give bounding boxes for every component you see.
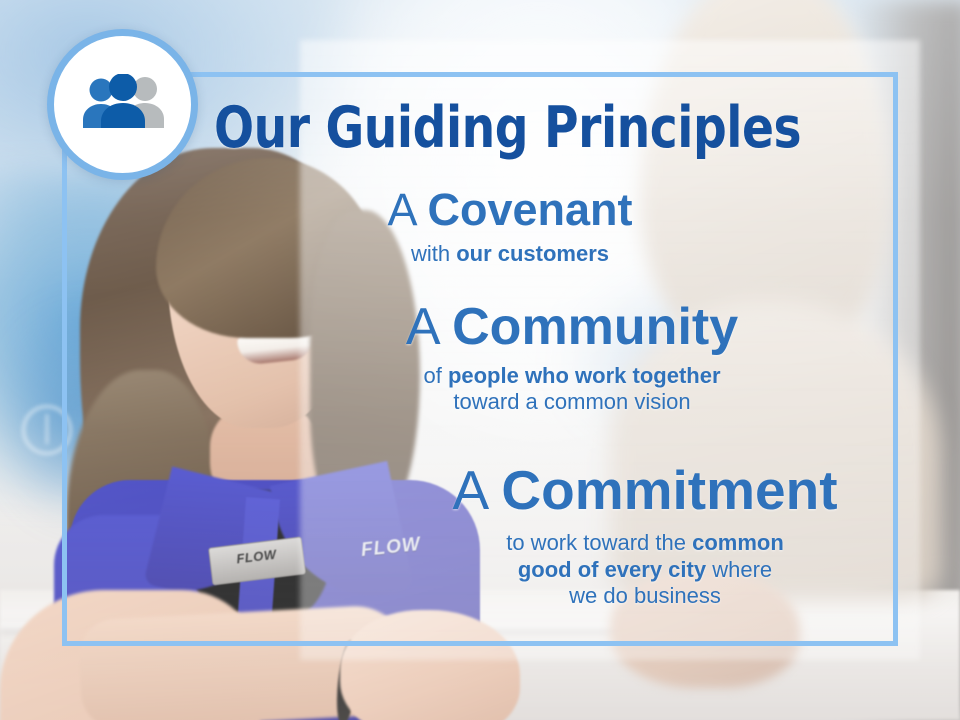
page-title: Our Guiding Principles bbox=[214, 95, 821, 161]
commitment-sub-line2: good of every city where bbox=[410, 557, 880, 584]
principle-commitment: A Commitment to work toward the common g… bbox=[410, 462, 880, 610]
people-group-icon bbox=[77, 74, 169, 136]
commitment-sub-line1: to work toward the common bbox=[410, 530, 880, 557]
principle-community-heading: A Community bbox=[352, 300, 792, 355]
commitment-sub2-bold: good of every city bbox=[518, 557, 706, 582]
guiding-principles-graphic: FLOW FLOW Our Guiding Principles bbox=[0, 0, 960, 720]
principle-commitment-heading: A Commitment bbox=[410, 462, 880, 520]
commitment-keyword: Commitment bbox=[501, 459, 837, 521]
principle-covenant: A Covenant with our customers bbox=[300, 186, 720, 268]
principle-community-subtext: of people who work together toward a com… bbox=[352, 363, 792, 417]
covenant-sub-pre: with bbox=[411, 241, 456, 266]
principle-covenant-heading: A Covenant bbox=[300, 186, 720, 233]
community-article: A bbox=[406, 298, 452, 356]
community-keyword: Community bbox=[452, 298, 738, 356]
commitment-sub-pre: to work toward the bbox=[506, 530, 692, 555]
people-group-badge bbox=[47, 29, 198, 180]
community-sub-line1: of people who work together bbox=[352, 363, 792, 390]
covenant-sub-bold: our customers bbox=[456, 241, 609, 266]
flow-badge-logo: FLOW bbox=[210, 543, 303, 569]
commitment-article: A bbox=[452, 459, 501, 521]
commitment-sub-bold: common bbox=[692, 530, 784, 555]
principle-commitment-subtext: to work toward the common good of every … bbox=[410, 530, 880, 610]
principle-covenant-subtext: with our customers bbox=[300, 241, 720, 268]
commitment-sub-line3: we do business bbox=[410, 583, 880, 610]
commitment-sub2-post: where bbox=[706, 557, 772, 582]
covenant-keyword: Covenant bbox=[428, 184, 633, 235]
covenant-article: A bbox=[387, 184, 427, 235]
community-sub-bold: people who work together bbox=[448, 363, 721, 388]
community-sub-pre: of bbox=[423, 363, 447, 388]
community-sub-line3: toward a common vision bbox=[352, 389, 792, 416]
principle-community: A Community of people who work together … bbox=[352, 300, 792, 416]
